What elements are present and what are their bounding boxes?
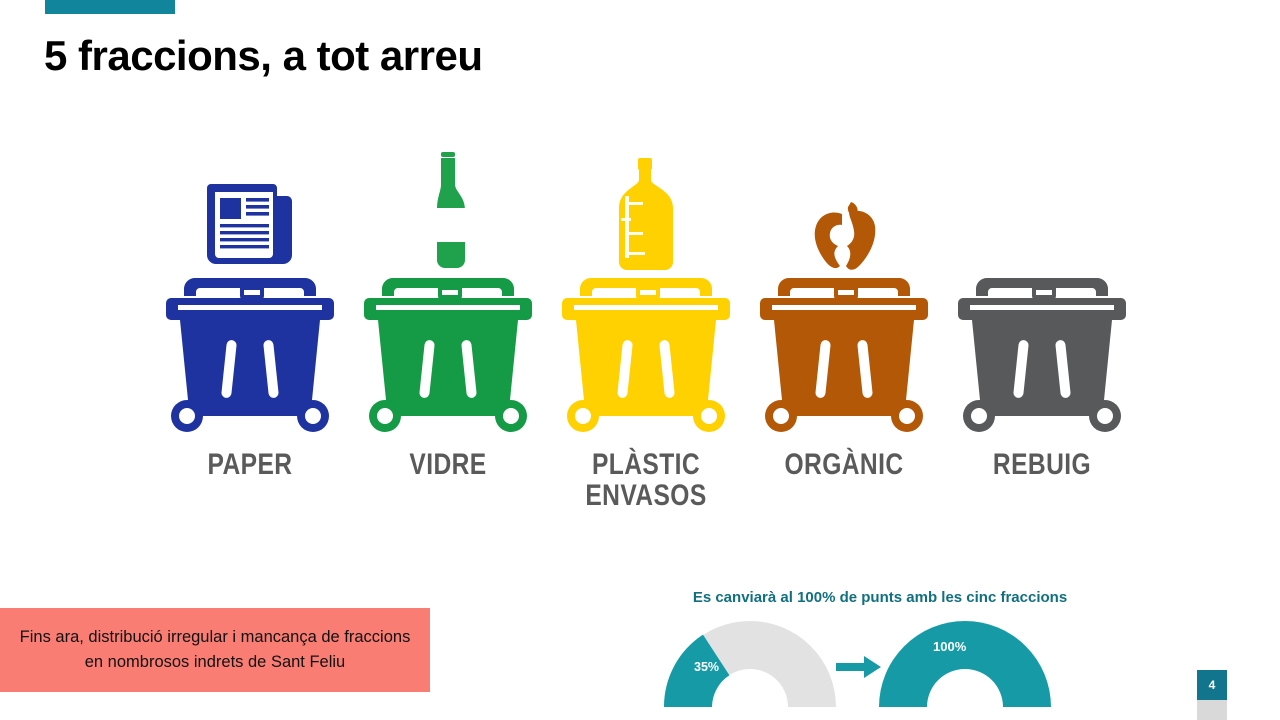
fraction-bin-slot — [150, 270, 350, 438]
fraction-bin-slot — [744, 270, 944, 438]
fraction-icon-slot — [546, 140, 746, 270]
gauge-after: 100% — [875, 615, 1055, 720]
page-number-badge: 4 — [1197, 670, 1227, 700]
gauge-before: 35% — [660, 615, 840, 720]
fraction-label-line1: ORGÀNIC — [762, 450, 926, 481]
fraction-bin-slot — [942, 270, 1142, 438]
gauge-comparison: 35% 100% — [660, 615, 1120, 720]
fraction-label-line2: ENVASOS — [564, 481, 728, 512]
fraction-icon-slot — [942, 140, 1142, 270]
fraction-icon-slot — [348, 140, 548, 270]
container-bin-vidre — [360, 278, 536, 434]
apple-core-icon — [811, 200, 877, 270]
gauge-before-value: 35% — [694, 660, 719, 674]
page-number: 4 — [1209, 678, 1216, 692]
fraction-label: VIDRE — [366, 450, 530, 481]
fraction-label: ORGÀNIC — [762, 450, 926, 481]
fraction-row: PAPER — [150, 140, 1140, 560]
glass-bottle-icon — [425, 152, 471, 270]
gauge-heading: Es canviarà al 100% de punts amb les cin… — [620, 589, 1140, 606]
fraction-label-line1: VIDRE — [366, 450, 530, 481]
fraction-plastic[interactable]: PLÀSTIC ENVASOS — [546, 140, 746, 560]
gauge-before-arc — [660, 615, 840, 720]
fraction-label: PLÀSTIC ENVASOS — [564, 450, 728, 511]
fraction-label-line1: PLÀSTIC — [564, 450, 728, 481]
fraction-icon-slot — [744, 140, 944, 270]
container-bin-rebuig — [954, 278, 1130, 434]
container-bin-plastic — [558, 278, 734, 434]
gauge-after-arc — [875, 615, 1055, 720]
slide: 5 fraccions, a tot arreu — [0, 0, 1280, 720]
fraction-label: REBUIG — [960, 450, 1124, 481]
page-title: 5 fraccions, a tot arreu — [44, 32, 483, 80]
fraction-label-line1: REBUIG — [960, 450, 1124, 481]
page-badge-footer — [1197, 700, 1227, 720]
fraction-icon-slot — [150, 140, 350, 270]
fraction-paper[interactable]: PAPER — [150, 140, 350, 560]
fraction-bin-slot — [546, 270, 746, 438]
fraction-bin-slot — [348, 270, 548, 438]
gauge-after-value: 100% — [933, 639, 966, 654]
fraction-organic[interactable]: ORGÀNIC — [744, 140, 944, 560]
container-bin-paper — [162, 278, 338, 434]
plastic-jug-icon — [615, 158, 677, 270]
accent-bar — [45, 0, 175, 14]
fraction-rebuig[interactable]: REBUIG — [942, 140, 1142, 560]
newspaper-icon — [207, 174, 293, 270]
fraction-vidre[interactable]: VIDRE — [348, 140, 548, 560]
fraction-label: PAPER — [168, 450, 332, 481]
callout-box: Fins ara, distribució irregular i mancan… — [0, 608, 430, 692]
callout-text: Fins ara, distribució irregular i mancan… — [0, 625, 430, 675]
container-bin-organic — [756, 278, 932, 434]
fraction-label-line1: PAPER — [168, 450, 332, 481]
